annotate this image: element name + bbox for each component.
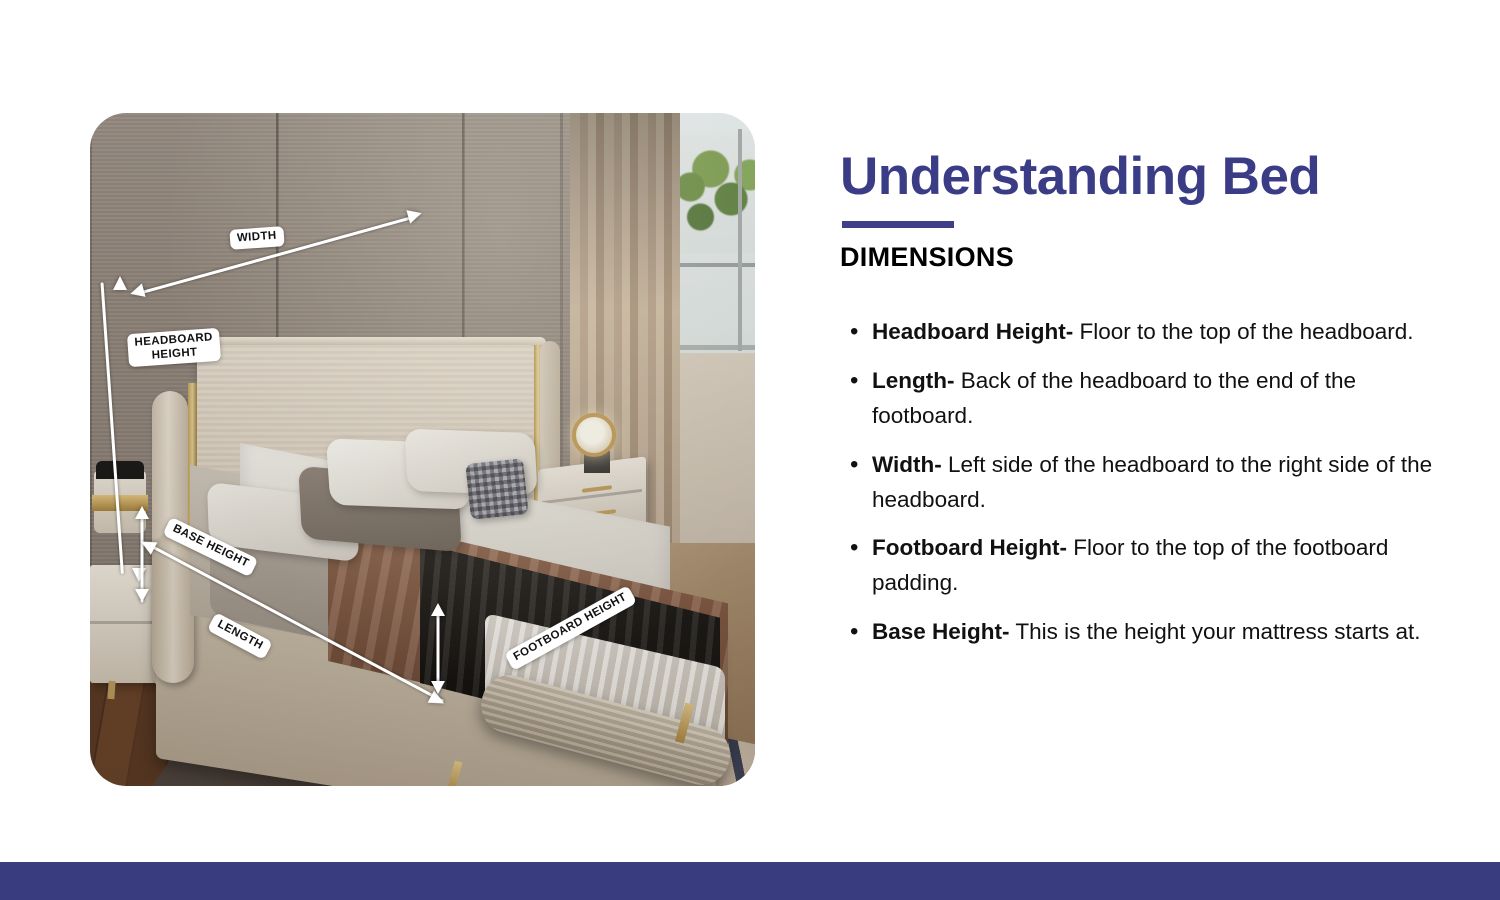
list-item-text: Left side of the headboard to the right …	[872, 452, 1432, 512]
headboard-height-arrow-head-top	[113, 276, 127, 290]
title-underline-rule	[842, 221, 954, 228]
page-subtitle: DIMENSIONS	[840, 242, 1440, 273]
base-height-arrow-head-top	[135, 506, 149, 519]
headboard-height-arrow-head-bottom	[132, 568, 146, 582]
footer-accent-bar	[0, 862, 1500, 900]
list-item: Length- Back of the headboard to the end…	[840, 364, 1440, 434]
list-item-text: This is the height your mattress starts …	[1010, 619, 1421, 644]
measurement-label-base-height: BASE HEIGHT	[163, 517, 259, 577]
list-item-term: Length-	[872, 368, 954, 393]
dimensions-list: Headboard Height- Floor to the top of th…	[840, 315, 1440, 650]
width-arrow-head-right	[406, 206, 423, 223]
width-arrow-head-left	[128, 283, 145, 300]
headboard-height-arrow-line	[101, 282, 124, 573]
bedroom-photo: WIDTH HEADBOARD HEIGHT BASE HEIGHT LENG	[90, 113, 755, 786]
list-item: Footboard Height- Floor to the top of th…	[840, 531, 1440, 601]
measurement-overlay: WIDTH HEADBOARD HEIGHT BASE HEIGHT LENG	[90, 113, 755, 786]
measurement-label-length: LENGTH	[207, 612, 272, 659]
list-item-term: Footboard Height-	[872, 535, 1067, 560]
page-title: Understanding Bed	[840, 150, 1440, 203]
list-item: Headboard Height- Floor to the top of th…	[840, 315, 1440, 350]
measurement-label-headboard-height: HEADBOARD HEIGHT	[127, 328, 221, 367]
measurement-label-footboard-height: FOOTBOARD HEIGHT	[504, 585, 637, 671]
base-height-arrow-head-bottom	[135, 589, 149, 602]
list-item-term: Width-	[872, 452, 942, 477]
measurement-label-width: WIDTH	[229, 226, 284, 249]
list-item: Base Height- This is the height your mat…	[840, 615, 1440, 650]
list-item-text: Floor to the top of the headboard.	[1073, 319, 1413, 344]
footboard-height-arrow-head-bottom	[431, 681, 445, 694]
list-item-term: Headboard Height-	[872, 319, 1073, 344]
slide-root: WIDTH HEADBOARD HEIGHT BASE HEIGHT LENG	[0, 0, 1500, 900]
list-item-term: Base Height-	[872, 619, 1010, 644]
footboard-height-arrow-head-top	[431, 603, 445, 616]
content-column: Understanding Bed DIMENSIONS Headboard H…	[840, 150, 1440, 664]
list-item: Width- Left side of the headboard to the…	[840, 448, 1440, 518]
length-arrow-line	[151, 545, 444, 703]
